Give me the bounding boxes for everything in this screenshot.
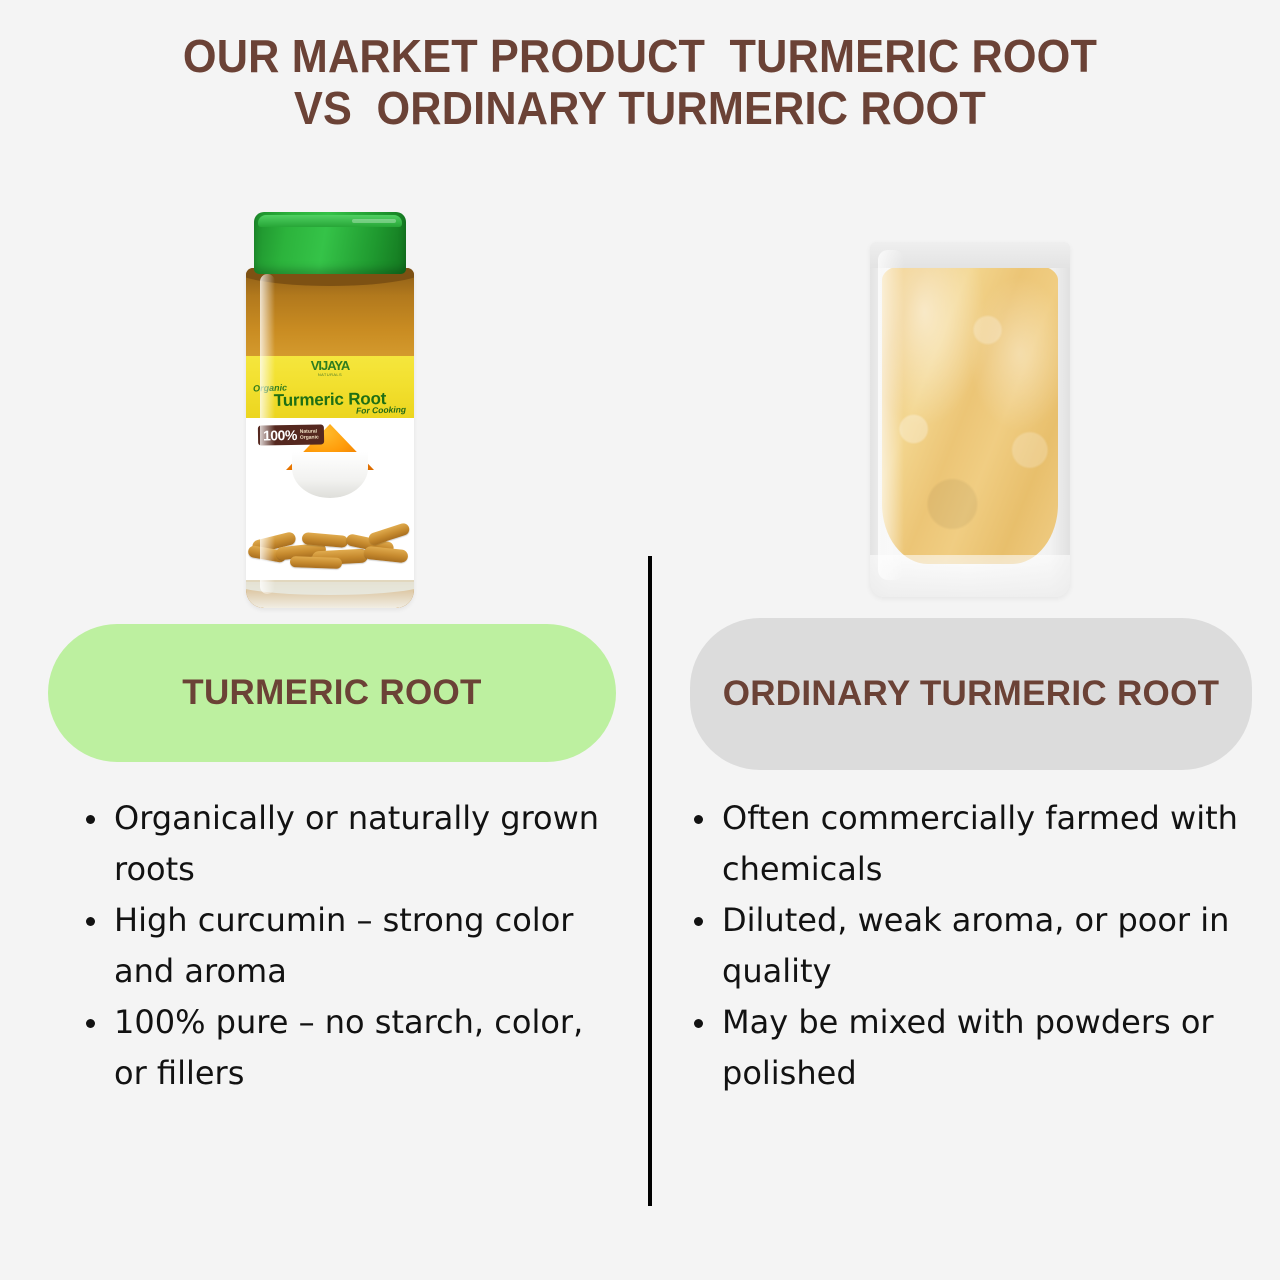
turmeric-pouch-illustration bbox=[870, 242, 1070, 597]
jar-powder-top bbox=[246, 268, 414, 368]
comparison-column-left: VIJAYA NATURALS Organic Turmeric Root Fo… bbox=[20, 170, 640, 1230]
page-title-line-2: VS ORDINARY TURMERIC ROOT bbox=[38, 82, 1241, 134]
turmeric-root bbox=[290, 556, 342, 569]
label-pill-turmeric-root: TURMERIC ROOT bbox=[48, 624, 616, 762]
product-image-left: VIJAYA NATURALS Organic Turmeric Root Fo… bbox=[20, 170, 640, 620]
jar-label-usage: For Cooking bbox=[356, 404, 406, 415]
brand-logo-icon: VIJAYA NATURALS bbox=[309, 359, 351, 377]
badge-number: 100% bbox=[263, 428, 297, 443]
product-image-right bbox=[660, 170, 1280, 620]
list-item: High curcumin – strong color and aroma bbox=[72, 895, 617, 997]
turmeric-root bbox=[363, 546, 408, 564]
pouch-plastic-sheen bbox=[878, 250, 904, 580]
white-bowl bbox=[292, 452, 368, 498]
label-pill-left-text: TURMERIC ROOT bbox=[182, 673, 481, 713]
drawbacks-list-right: Often commercially farmed with chemicals… bbox=[680, 793, 1252, 1099]
jar-label-band: VIJAYA NATURALS Organic Turmeric Root Fo… bbox=[246, 356, 414, 418]
column-divider bbox=[648, 556, 652, 1206]
brand-logo-mark: VIJAYA bbox=[309, 359, 351, 372]
jar-cap-seam bbox=[352, 219, 396, 223]
label-pill-right-text: ORDINARY TURMERIC ROOT bbox=[723, 671, 1220, 717]
hundred-percent-badge: 100% Natural Organic bbox=[258, 424, 324, 445]
list-item: Diluted, weak aroma, or poor in quality bbox=[680, 895, 1252, 997]
page-title-line-1: OUR MARKET PRODUCT TURMERIC ROOT bbox=[38, 30, 1241, 82]
list-item: Organically or naturally grown roots bbox=[72, 793, 617, 895]
page-title: OUR MARKET PRODUCT TURMERIC ROOT VS ORDI… bbox=[0, 30, 1280, 134]
jar-glass-base bbox=[246, 582, 414, 608]
benefits-list-left: Organically or naturally grown roots Hig… bbox=[72, 793, 617, 1099]
turmeric-roots-group bbox=[246, 514, 414, 570]
jar-photo-panel: 100% Natural Organic bbox=[246, 418, 414, 580]
list-item: Often commercially farmed with chemicals bbox=[680, 793, 1252, 895]
comparison-column-right: ORDINARY TURMERIC ROOT Often commerciall… bbox=[660, 170, 1280, 1230]
jar-body: VIJAYA NATURALS Organic Turmeric Root Fo… bbox=[246, 268, 414, 608]
pouch-bag bbox=[870, 242, 1070, 597]
brand-logo-subtext: NATURALS bbox=[309, 373, 351, 377]
turmeric-jar-illustration: VIJAYA NATURALS Organic Turmeric Root Fo… bbox=[240, 212, 420, 612]
list-item: May be mixed with powders or polished bbox=[680, 997, 1252, 1099]
list-item: 100% pure – no starch, color, or fillers bbox=[72, 997, 617, 1099]
badge-caption: Natural Organic bbox=[300, 429, 319, 441]
pouch-powder-fill bbox=[882, 264, 1058, 564]
label-pill-ordinary-turmeric-root: ORDINARY TURMERIC ROOT bbox=[690, 618, 1252, 770]
badge-caption-line-2: Organic bbox=[300, 435, 319, 441]
